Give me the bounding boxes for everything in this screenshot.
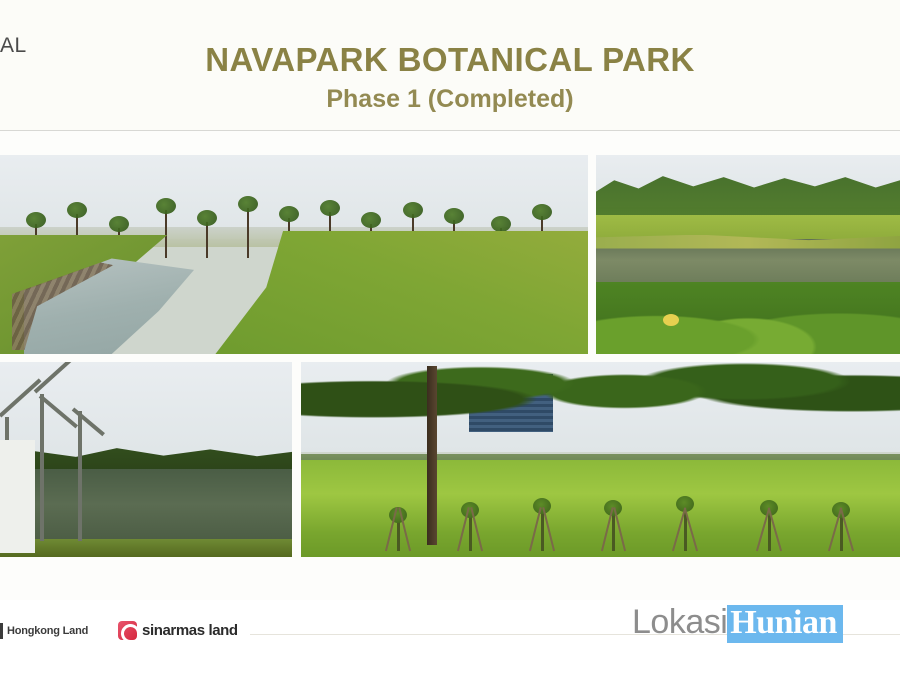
photo-top-right <box>596 155 900 354</box>
site-watermark: Lokasi Hunian <box>632 605 843 643</box>
watermark-lokasi: Lokasi <box>632 605 727 639</box>
tree-canopy <box>301 362 900 460</box>
sinarmas-land-label: sinarmas land <box>142 622 238 639</box>
hongkong-land-label: Hongkong Land <box>7 625 88 637</box>
presentation-slide: AL NAVAPARK BOTANICAL PARK Phase 1 (Comp… <box>0 0 900 675</box>
foreground-foliage <box>596 282 900 354</box>
photo-top-left <box>0 155 588 354</box>
white-wall <box>0 440 35 553</box>
slide-header: AL NAVAPARK BOTANICAL PARK Phase 1 (Comp… <box>0 0 900 131</box>
photo-bottom-left <box>0 362 292 557</box>
sinarmas-land-logo: sinarmas land <box>118 621 238 640</box>
watermark-hunian: Hunian <box>727 605 843 643</box>
page-subtitle: Phase 1 (Completed) <box>0 82 900 116</box>
sinarmas-swirl-icon <box>118 621 137 640</box>
header-divider <box>0 130 900 131</box>
sapling-stake-group <box>301 456 900 557</box>
page-title: NAVAPARK BOTANICAL PARK <box>0 40 900 80</box>
hongkong-land-mark-icon <box>0 623 3 639</box>
title-block: NAVAPARK BOTANICAL PARK Phase 1 (Complet… <box>0 40 900 116</box>
hongkong-land-logo: Hongkong Land <box>0 623 88 639</box>
lake-edge-grass <box>0 539 292 557</box>
photo-bottom-right <box>301 362 900 557</box>
